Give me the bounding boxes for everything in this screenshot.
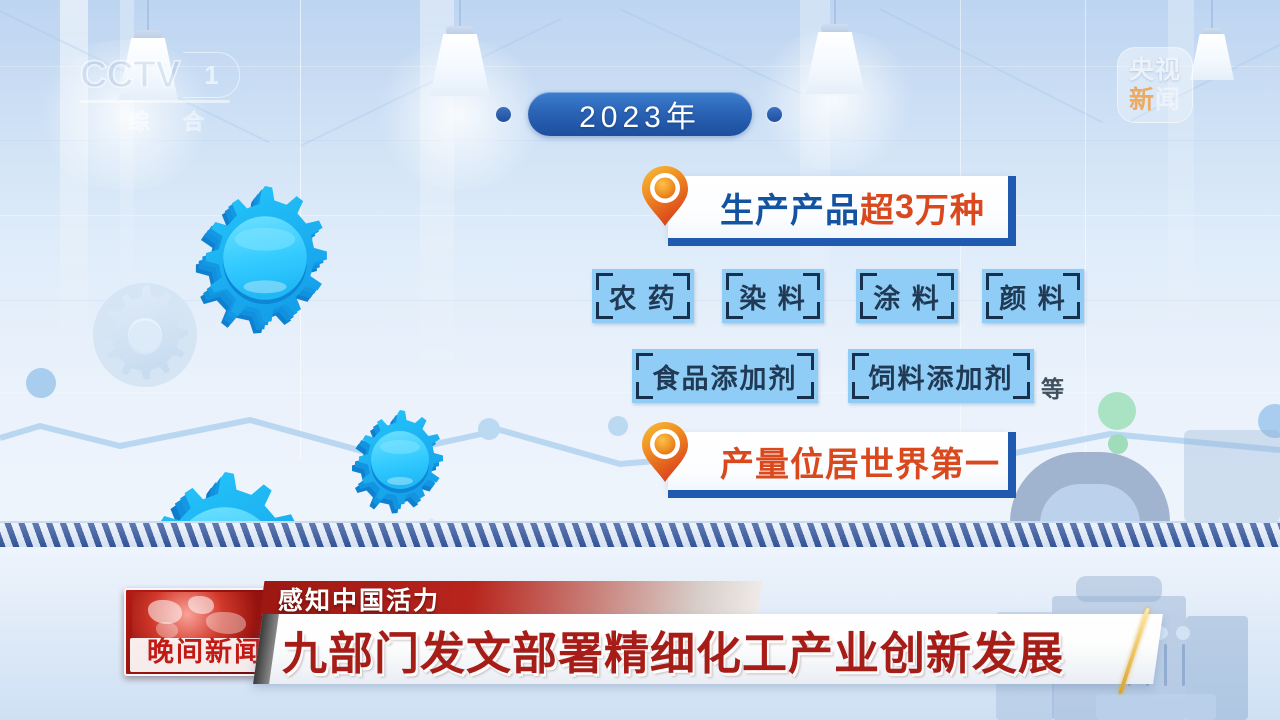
tag-chip-label: 涂 料 bbox=[873, 277, 941, 316]
lamp-cord bbox=[834, 0, 836, 26]
tag-chip-tuliao: 涂 料 bbox=[856, 269, 958, 323]
machine-slider bbox=[1164, 644, 1167, 686]
lamp-shade bbox=[805, 32, 865, 94]
news-badge-wen: 闻 bbox=[1155, 86, 1181, 114]
lamp-cap bbox=[1202, 28, 1222, 35]
corner-bracket-icon bbox=[937, 302, 954, 319]
gear-right-medium bbox=[352, 410, 443, 514]
corner-bracket-icon bbox=[726, 273, 743, 290]
machine-dial bbox=[1176, 626, 1190, 640]
tag-chip-yanliao: 颜 料 bbox=[982, 269, 1084, 323]
statement-1-orange-prefix: 超 bbox=[860, 183, 895, 232]
statement-2-right-bar bbox=[1008, 432, 1016, 498]
broadcast-screenshot: CCTV 1 综 合 央视 新闻 2023年 生产产品超3万种 bbox=[0, 0, 1280, 720]
corner-bracket-icon bbox=[596, 273, 613, 290]
corner-bracket-icon bbox=[797, 353, 814, 370]
lamp-shade bbox=[430, 34, 490, 96]
lamp-cap bbox=[821, 24, 849, 33]
corner-bracket-icon bbox=[1013, 353, 1030, 370]
statement-2-bottom-bar bbox=[668, 490, 1016, 498]
statement-2-text: 产量位居世界第一 bbox=[720, 432, 1000, 490]
tag-chip-ranliao: 染 料 bbox=[722, 269, 824, 323]
cctv-news-badge: 央视 新闻 bbox=[1117, 47, 1193, 123]
statement-panel-1: 生产产品超3万种 bbox=[668, 176, 1008, 238]
tag-chip-nongyao: 农 药 bbox=[592, 269, 694, 323]
tag-chip-label: 颜 料 bbox=[999, 277, 1067, 316]
corner-bracket-icon bbox=[803, 302, 820, 319]
machine-panel bbox=[1096, 694, 1216, 720]
year-pill-dot-right bbox=[767, 107, 782, 122]
machine-cap bbox=[1076, 576, 1162, 602]
corner-bracket-icon bbox=[937, 273, 954, 290]
chart-node-green bbox=[1108, 434, 1128, 454]
lamp-cord bbox=[459, 0, 461, 28]
background-machine-shape bbox=[1184, 430, 1280, 522]
cctv-channel-name: 综 合 bbox=[80, 106, 266, 136]
statement-panel-2: 产量位居世界第一 bbox=[668, 432, 1008, 490]
statement-2-label: 产量位居世界第一 bbox=[720, 437, 1000, 486]
statement-1-bottom-bar bbox=[668, 238, 1016, 246]
chart-node bbox=[608, 416, 628, 436]
globe-landmass bbox=[188, 596, 214, 614]
tag-chip-shipintianjiaji: 食品添加剂 bbox=[632, 349, 818, 403]
chart-node-green bbox=[1098, 392, 1136, 430]
corner-bracket-icon bbox=[1013, 382, 1030, 399]
corner-bracket-icon bbox=[803, 273, 820, 290]
cctv-channel-number: 1 bbox=[183, 52, 240, 98]
lamp-cap bbox=[134, 30, 162, 39]
globe-landmass bbox=[148, 600, 182, 624]
year-pill-dot-left bbox=[496, 107, 511, 122]
corner-bracket-icon bbox=[1063, 302, 1080, 319]
statement-1-right-bar bbox=[1008, 176, 1016, 246]
gear-pale-small bbox=[93, 283, 197, 387]
corner-bracket-icon bbox=[673, 273, 690, 290]
location-pin-icon bbox=[640, 164, 690, 228]
gear-top-large bbox=[196, 186, 327, 334]
corner-bracket-icon bbox=[986, 302, 1003, 319]
tag-chip-siliaotianjiaji: 饲料添加剂 bbox=[848, 349, 1034, 403]
cctv-watermark: CCTV 1 综 合 bbox=[80, 52, 266, 130]
corner-bracket-icon bbox=[852, 353, 869, 370]
corner-bracket-icon bbox=[797, 382, 814, 399]
statement-1-orange-suffix: 万种 bbox=[915, 183, 985, 232]
location-pin-icon bbox=[640, 420, 690, 484]
cctv-underline bbox=[80, 100, 230, 103]
lamp-shade bbox=[1190, 34, 1234, 80]
corner-bracket-icon bbox=[673, 302, 690, 319]
tag-chip-label: 农 药 bbox=[609, 277, 677, 316]
tag-chip-label: 饲料添加剂 bbox=[869, 357, 1014, 396]
corner-bracket-icon bbox=[726, 302, 743, 319]
corner-bracket-icon bbox=[596, 302, 613, 319]
corner-bracket-icon bbox=[852, 382, 869, 399]
tag-chip-label: 食品添加剂 bbox=[653, 357, 798, 396]
lamp-cord bbox=[1211, 0, 1213, 30]
year-pill: 2023年 bbox=[528, 92, 752, 136]
lamp-cord bbox=[147, 0, 149, 32]
cctv-wordmark: CCTV bbox=[80, 54, 179, 97]
corner-bracket-icon bbox=[1063, 273, 1080, 290]
pendant-lamp bbox=[1190, 0, 1234, 92]
tag-chip-label: 染 料 bbox=[739, 277, 807, 316]
news-badge-line2: 新闻 bbox=[1129, 85, 1181, 115]
statement-1-orange-number: 3 bbox=[895, 188, 915, 227]
news-badge-xin: 新 bbox=[1129, 86, 1155, 114]
cctv-logo-row: CCTV 1 bbox=[80, 52, 266, 98]
tags-suffix-label: 等 bbox=[1041, 370, 1064, 404]
corner-bracket-icon bbox=[860, 302, 877, 319]
pendant-lamp bbox=[430, 0, 490, 106]
statement-1-text: 生产产品超3万种 bbox=[720, 176, 985, 238]
news-badge-line1: 央视 bbox=[1129, 55, 1181, 85]
corner-bracket-icon bbox=[986, 273, 1003, 290]
corner-bracket-icon bbox=[860, 273, 877, 290]
headline-label: 九部门发文部署精细化工产业创新发展 bbox=[282, 616, 1064, 682]
statement-1-blue-text: 生产产品 bbox=[720, 183, 860, 232]
corner-bracket-icon bbox=[636, 382, 653, 399]
machine-slider bbox=[1182, 644, 1185, 686]
corner-bracket-icon bbox=[636, 353, 653, 370]
gears-illustration bbox=[40, 140, 510, 540]
kicker-label: 感知中国活力 bbox=[278, 584, 440, 614]
lamp-cap bbox=[446, 26, 474, 35]
pendant-lamp bbox=[805, 0, 865, 104]
year-pill-label: 2023年 bbox=[579, 92, 701, 136]
